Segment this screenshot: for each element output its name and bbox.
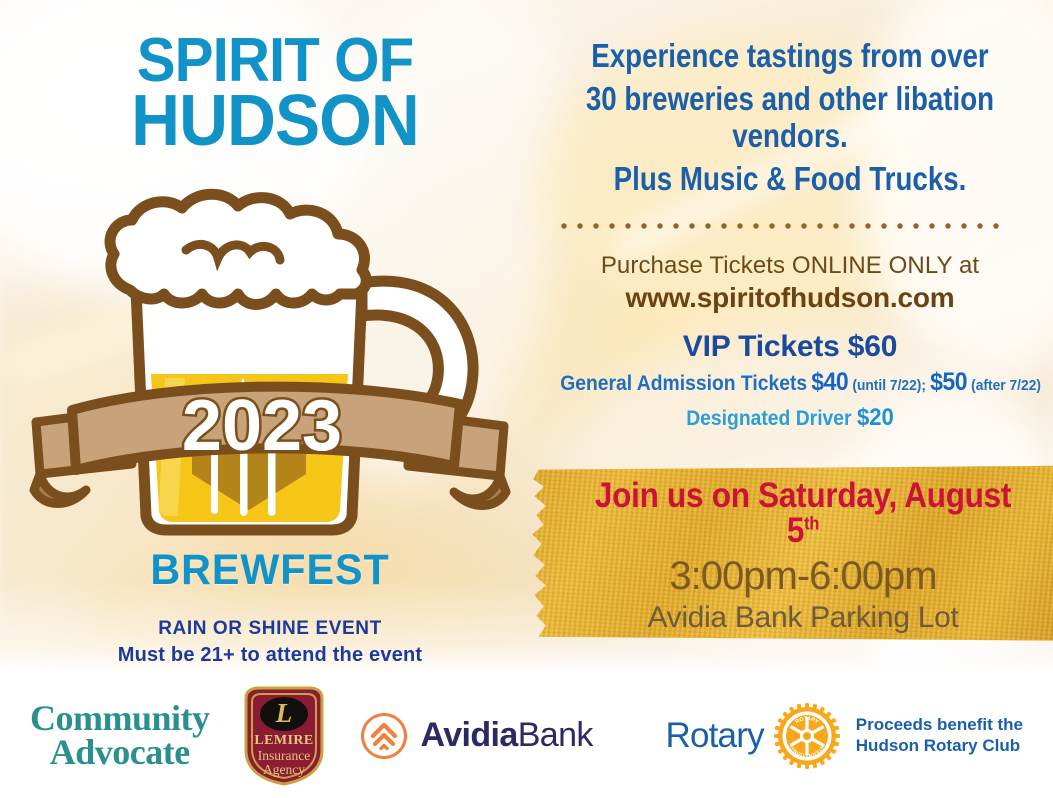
tagline-line-2: 30 breweries and other libation vendors. <box>580 81 1000 155</box>
lemire-monogram: L <box>274 698 292 728</box>
ga-label: General Admission Tickets <box>560 372 807 395</box>
tagline-block: Experience tastings from over 30 breweri… <box>540 38 1040 198</box>
lemire-line-2: Insurance <box>257 748 309 763</box>
event-details-banner: Join us on Saturday, August 5th 3:00pm-6… <box>528 462 1053 652</box>
ga-note-late: (after 7/22) <box>971 377 1041 394</box>
event-location: Avidia Bank Parking Lot <box>568 601 1038 635</box>
dd-label: Designated Driver <box>686 407 851 430</box>
rotary-wheel-icon: ROTARY INTERNATIONAL <box>774 703 840 769</box>
ticket-website-link[interactable]: www.spiritofhudson.com <box>540 282 1040 314</box>
rotary-benefit-line-1: Proceeds benefit the <box>856 715 1023 736</box>
tagline-line-1: Experience tastings from over <box>580 38 1000 75</box>
sponsor-community-advocate[interactable]: Community Advocate <box>30 702 210 768</box>
ga-note-early: (until 7/22); <box>852 377 926 394</box>
banner-content: Join us on Saturday, August 5th 3:00pm-6… <box>568 478 1038 635</box>
sponsor-list: Community Advocate L LEMIRE Insurance Ag… <box>0 684 1053 788</box>
general-admission-price: General Admission Tickets $40 (until 7/2… <box>560 368 1025 397</box>
lemire-line-3: Agency <box>263 762 305 777</box>
avidia-bank-word: Bank <box>518 716 593 754</box>
event-time: 3:00pm-6:00pm <box>568 554 1038 599</box>
dd-price: $20 <box>857 404 894 431</box>
rain-or-shine-note: RAIN OR SHINE EVENT <box>60 618 480 640</box>
avidia-chevron-circle-icon <box>360 712 408 760</box>
lemire-shield-icon: L LEMIRE Insurance Agency <box>236 684 332 788</box>
vip-ticket-price: VIP Tickets $60 <box>540 330 1040 364</box>
logo-year-text: 2023 <box>182 386 342 466</box>
community-advocate-line-1: Community <box>30 702 210 735</box>
poster-title: SPIRIT OF HUDSON <box>60 34 490 153</box>
ga-price-late: $50 <box>930 368 967 396</box>
sponsor-rotary-club[interactable]: Rotary <box>665 703 1023 769</box>
rotary-benefit-note: Proceeds benefit the Hudson Rotary Club <box>856 715 1023 756</box>
brewfest-subtitle: BREWFEST <box>68 546 471 595</box>
avidia-wordmark: AvidiaBank <box>421 716 593 755</box>
purchase-instruction: Purchase Tickets ONLINE ONLY at <box>540 252 1040 280</box>
beer-mug-logo: 2023 <box>10 178 530 538</box>
designated-driver-price: Designated Driver $20 <box>560 404 1020 432</box>
sponsor-avidia-bank[interactable]: AvidiaBank <box>360 712 593 760</box>
rotary-wordmark: Rotary <box>665 716 763 756</box>
age-requirement-note: Must be 21+ to attend the event <box>50 644 490 667</box>
community-advocate-line-2: Advocate <box>30 736 210 769</box>
sponsor-lemire-insurance[interactable]: L LEMIRE Insurance Agency <box>236 684 332 788</box>
rotary-benefit-line-2: Hudson Rotary Club <box>856 736 1023 757</box>
dotted-divider <box>556 222 1006 230</box>
sponsor-footer: Community Advocate L LEMIRE Insurance Ag… <box>0 673 1053 798</box>
event-date-ordinal-suffix: th <box>804 513 819 533</box>
event-poster: SPIRIT OF HUDSON <box>0 0 1053 798</box>
ga-price-early: $40 <box>811 368 848 396</box>
beer-mug-icon: 2023 <box>10 178 530 538</box>
title-line-1: SPIRIT OF <box>73 34 477 87</box>
tagline-line-3: Plus Music & Food Trucks. <box>580 161 1000 198</box>
avidia-name: Avidia <box>421 716 518 754</box>
event-date: Join us on Saturday, August 5th <box>592 478 1015 548</box>
lemire-line-1: LEMIRE <box>254 733 313 748</box>
title-line-2: HUDSON <box>73 91 477 153</box>
